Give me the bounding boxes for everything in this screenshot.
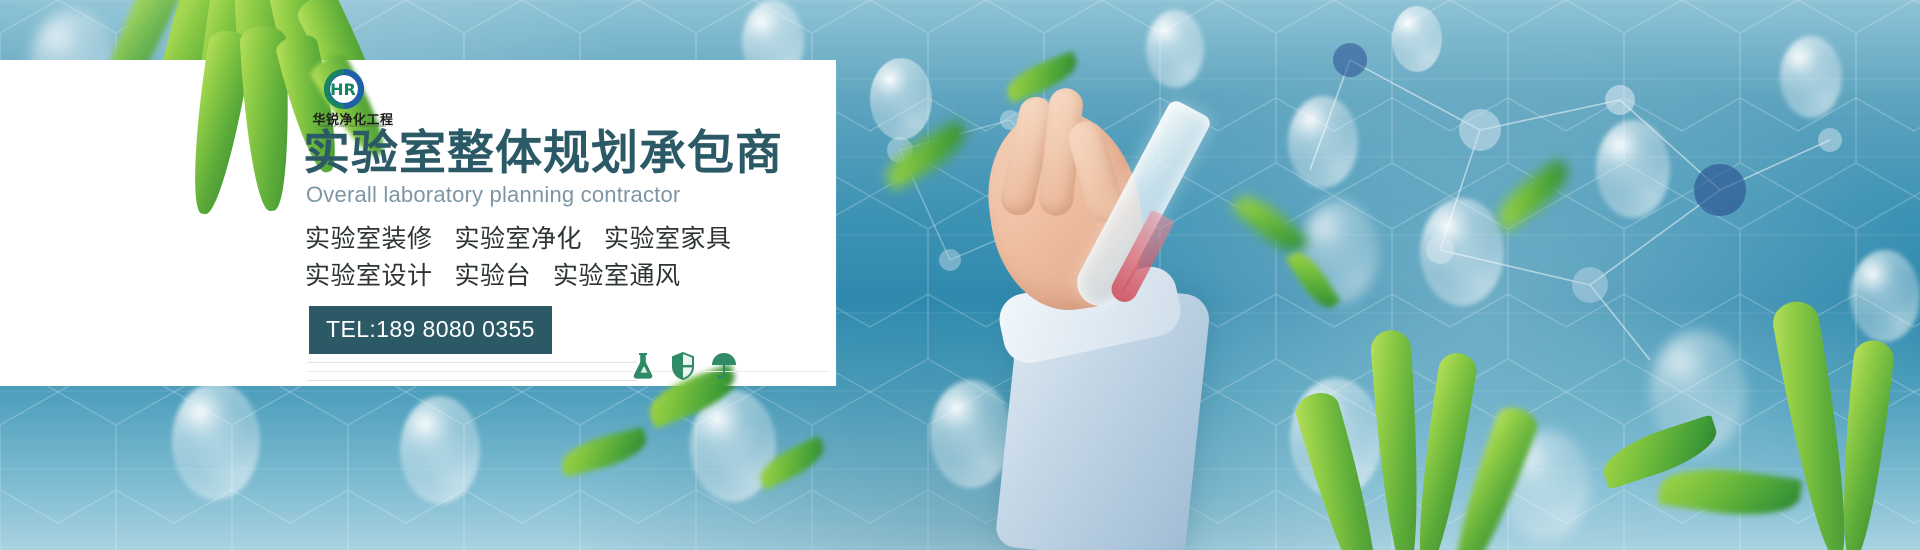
service-item: 实验室通风 [553,261,681,290]
brand-logo[interactable]: HR 华锐净化工程 HUA RUI JING HUA GONG CHENG [305,68,401,130]
umbrella-icon [711,352,737,380]
laboratory-banner: HR 华锐净化工程 HUA RUI JING HUA GONG CHENG 实验… [0,0,1920,550]
panel-fade-edge [780,60,838,386]
feature-icon-group [633,352,737,380]
phone-button[interactable]: TEL:189 8080 0355 [309,306,552,354]
bubble [400,396,480,504]
bubble [930,380,1012,488]
bubble [172,382,260,500]
service-item: 实验室家具 [604,224,732,253]
divider-line [307,380,637,381]
service-item: 实验台 [455,261,532,290]
page-title: 实验室整体规划承包商 [303,130,783,177]
service-list-row-2: 实验室设计实验台实验室通风 [305,256,681,292]
service-item: 实验室设计 [305,261,433,290]
service-list-row-1: 实验室装修实验室净化实验室家具 [305,219,732,255]
hr-circle-logo-icon: HR [323,68,365,110]
service-item: 实验室净化 [455,224,583,253]
flask-icon [633,352,655,380]
service-item: 实验室装修 [305,224,433,253]
divider-line [307,371,829,372]
svg-text:HR: HR [330,80,356,99]
bubble [1146,10,1204,88]
divider-line [307,362,637,363]
page-subtitle: Overall laboratory planning contractor [306,182,680,208]
shield-icon [672,352,694,380]
